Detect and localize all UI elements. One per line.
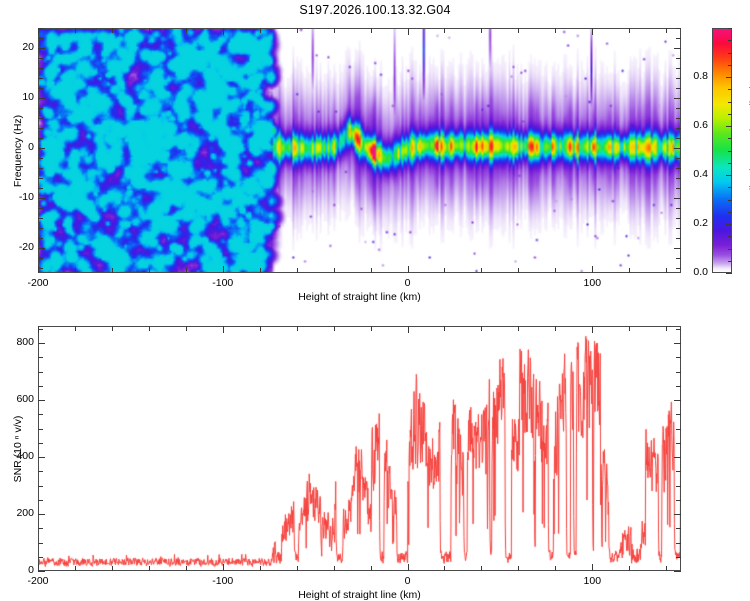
axis-tick [481,326,482,331]
axis-tick [38,228,43,229]
axis-tick [75,28,76,33]
axis-tick [38,429,43,430]
axis-tick [676,557,681,558]
axis-tick [726,273,732,274]
spectrogram-yaxis-label: Frequency (Hz) [12,114,24,186]
axis-tick [676,357,681,358]
axis-tick [518,268,519,273]
axis-tick [676,471,681,472]
axis-tick [676,329,681,330]
axis-tick [223,564,224,571]
axis-tick [555,326,556,331]
axis-tick [676,443,681,444]
axis-tick-label: 0 [405,277,411,289]
axis-tick [666,566,667,571]
axis-tick [676,38,681,39]
axis-tick-label: 600 [16,393,34,405]
axis-tick [518,326,519,331]
axis-tick [297,28,298,33]
axis-tick [726,224,732,225]
axis-tick [334,268,335,273]
axis-tick [676,88,681,89]
axis-tick [371,28,372,33]
axis-tick [38,414,43,415]
axis-tick [674,343,681,344]
axis-tick [186,566,187,571]
axis-tick [38,343,45,344]
axis-tick [38,357,43,358]
axis-tick [38,528,43,529]
axis-tick [223,326,224,333]
axis-tick [38,471,43,472]
axis-tick [112,326,113,331]
axis-tick [260,268,261,273]
axis-tick [728,261,732,262]
axis-tick [728,65,732,66]
axis-tick [728,40,732,41]
snr-panel [38,326,681,571]
axis-tick [676,128,681,129]
axis-tick [444,268,445,273]
axis-tick [676,500,681,501]
axis-tick [555,28,556,33]
axis-tick [38,238,43,239]
axis-tick [371,326,372,331]
axis-tick [481,28,482,33]
axis-tick-label: 100 [584,277,602,289]
axis-tick [38,564,39,571]
axis-tick [728,249,732,250]
figure-title: S197.2026.100.13.32.G04 [0,3,750,17]
axis-tick [38,128,43,129]
axis-tick [726,175,732,176]
axis-tick-label: 0.0 [693,266,708,278]
axis-tick [481,268,482,273]
axis-tick [518,566,519,571]
axis-tick [408,28,409,35]
axis-tick [444,28,445,33]
axis-tick [371,268,372,273]
axis-tick-label: 0.6 [693,119,708,131]
axis-tick [728,89,732,90]
axis-tick [38,68,43,69]
axis-tick [260,326,261,331]
axis-tick [676,108,681,109]
axis-tick [666,326,667,331]
axis-tick [297,566,298,571]
axis-tick [518,28,519,33]
axis-tick [75,326,76,331]
axis-tick [223,266,224,273]
axis-tick [676,218,681,219]
axis-tick [676,178,681,179]
axis-tick-label: 10 [22,91,34,103]
axis-tick [674,248,681,249]
axis-tick [186,326,187,331]
axis-tick [728,200,732,201]
axis-tick [297,268,298,273]
axis-tick [629,326,630,331]
axis-tick [728,163,732,164]
axis-tick [676,372,681,373]
axis-tick [38,188,43,189]
axis-tick [444,566,445,571]
axis-tick [112,268,113,273]
axis-tick [38,78,43,79]
axis-tick [676,238,681,239]
axis-tick [38,500,43,501]
axis-tick [38,158,43,159]
axis-tick [38,557,43,558]
axis-tick [186,28,187,33]
axis-tick [676,58,681,59]
axis-tick-label: 0.2 [693,217,708,229]
axis-tick [674,48,681,49]
axis-tick [444,326,445,331]
axis-tick [726,77,732,78]
spectrogram-panel [38,28,681,273]
axis-tick [38,386,43,387]
axis-tick [38,28,43,29]
axis-tick [38,248,45,249]
axis-tick [676,528,681,529]
axis-tick [666,268,667,273]
axis-tick [149,268,150,273]
axis-tick [223,28,224,35]
axis-tick [38,218,43,219]
figure-root: S197.2026.100.13.32.G04 -200-1000100-20-… [0,0,750,600]
axis-tick-label: -10 [19,191,34,203]
axis-tick-label: 100 [584,575,602,587]
axis-tick [728,102,732,103]
axis-tick [555,566,556,571]
axis-tick [38,486,43,487]
axis-tick [38,329,43,330]
axis-tick [676,138,681,139]
axis-tick [38,178,43,179]
axis-tick [592,28,593,35]
axis-tick [38,108,43,109]
axis-tick [629,268,630,273]
axis-tick-label: -100 [212,277,233,289]
axis-tick [676,78,681,79]
axis-tick [38,58,43,59]
axis-tick [592,266,593,273]
axis-tick [674,148,681,149]
axis-tick [676,258,681,259]
axis-tick [334,326,335,331]
axis-tick [260,28,261,33]
axis-tick [38,372,43,373]
axis-tick [676,386,681,387]
axis-tick [728,236,732,237]
axis-tick-label: -200 [27,277,48,289]
axis-tick [676,268,681,269]
axis-tick-label: -20 [19,241,34,253]
axis-tick [592,326,593,333]
axis-tick [408,564,409,571]
axis-tick [666,28,667,33]
axis-tick [629,566,630,571]
axis-tick [408,266,409,273]
axis-tick [186,268,187,273]
axis-tick [149,28,150,33]
axis-tick [408,326,409,333]
axis-tick [674,457,681,458]
axis-tick [75,566,76,571]
axis-tick [674,400,681,401]
axis-tick [38,400,45,401]
snr-trace [39,327,681,571]
axis-tick [38,38,43,39]
axis-tick [75,268,76,273]
axis-tick [676,28,681,29]
axis-tick [676,188,681,189]
axis-tick-label: -200 [27,575,48,587]
axis-tick [726,126,732,127]
axis-tick [38,98,45,99]
axis-tick [676,486,681,487]
spectrogram-image [39,29,681,273]
axis-tick [674,514,681,515]
axis-tick [555,268,556,273]
axis-tick [674,198,681,199]
axis-tick [676,414,681,415]
spectrogram-xaxis-label: Height of straight line (km) [298,291,421,303]
axis-tick-label: 0.4 [693,168,708,180]
axis-tick-label: 0 [28,141,34,153]
axis-tick-label: 800 [16,336,34,348]
axis-tick [674,98,681,99]
axis-tick [728,138,732,139]
axis-tick [38,457,45,458]
axis-tick [676,543,681,544]
axis-tick [676,429,681,430]
axis-tick [481,566,482,571]
axis-tick-label: 0.8 [693,70,708,82]
axis-tick [38,208,43,209]
axis-tick [38,118,43,119]
axis-tick [728,212,732,213]
axis-tick [260,566,261,571]
snr-yaxis-label: SNR (10 ⁿ v/v) [12,415,24,482]
axis-tick [728,53,732,54]
axis-tick [728,28,732,29]
axis-tick [676,158,681,159]
axis-tick [676,68,681,69]
axis-tick [38,258,43,259]
axis-tick [676,168,681,169]
axis-tick [592,564,593,571]
axis-tick-label: -100 [212,575,233,587]
snr-xaxis-label: Height of straight line (km) [298,589,421,601]
axis-tick-label: 200 [16,507,34,519]
axis-tick [38,268,43,269]
axis-tick [629,28,630,33]
axis-tick [38,168,43,169]
axis-tick [38,198,45,199]
axis-tick [674,571,681,572]
axis-tick [38,543,43,544]
axis-tick [38,88,43,89]
axis-tick [112,28,113,33]
axis-tick [38,148,45,149]
axis-tick [112,566,113,571]
axis-tick-label: 0 [405,575,411,587]
axis-tick [371,566,372,571]
axis-tick [334,566,335,571]
axis-tick [676,208,681,209]
axis-tick [38,138,43,139]
axis-tick [297,326,298,331]
axis-tick [728,187,732,188]
axis-tick [334,28,335,33]
axis-tick [728,114,732,115]
axis-tick [38,571,45,572]
axis-tick [38,514,45,515]
axis-tick [149,326,150,331]
axis-tick-label: 20 [22,41,34,53]
axis-tick [149,566,150,571]
axis-tick [676,228,681,229]
axis-tick [38,28,39,35]
axis-tick-label: 0 [28,564,34,576]
axis-tick [38,443,43,444]
axis-tick [38,48,45,49]
axis-tick [728,151,732,152]
axis-tick [676,118,681,119]
